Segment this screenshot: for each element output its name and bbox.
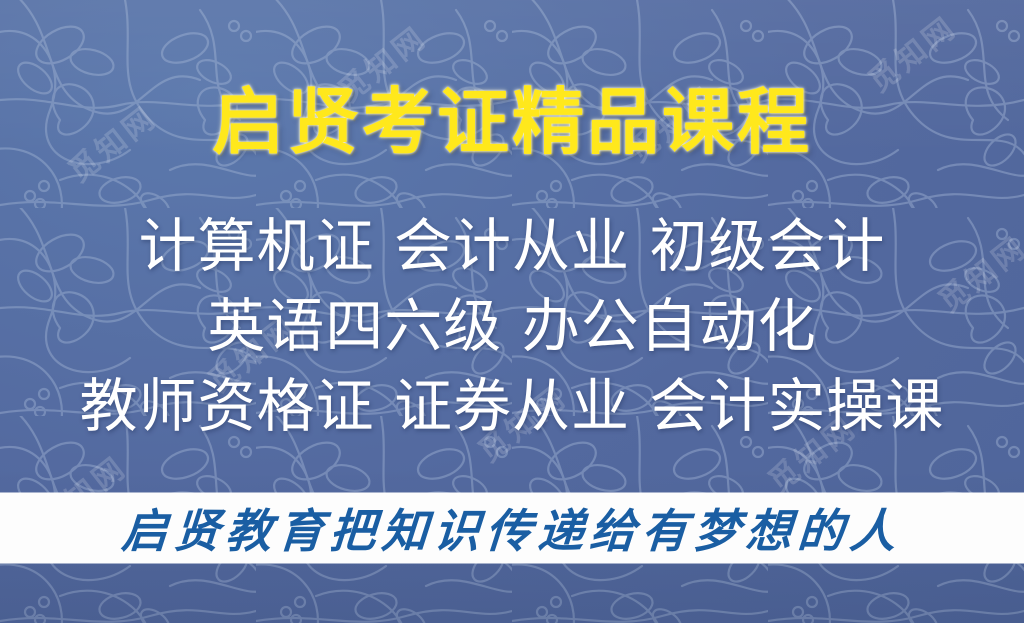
poster-title: 启贤考证精品课程 bbox=[0, 86, 1024, 158]
slogan-text: 启贤教育把知识传递给有梦想的人 bbox=[0, 496, 1024, 560]
course-line: 英语四六级 办公自动化 bbox=[0, 286, 1024, 366]
course-line: 计算机证 会计从业 初级会计 bbox=[0, 206, 1024, 286]
poster-canvas: 觅知网 觅知网 觅知网 觅知网 觅知网 觅知网 觅知网 觅知网 觅知网 启贤考证… bbox=[0, 0, 1024, 623]
course-list: 计算机证 会计从业 初级会计 英语四六级 办公自动化 教师资格证 证券从业 会计… bbox=[0, 206, 1024, 446]
course-line: 教师资格证 证券从业 会计实操课 bbox=[0, 366, 1024, 446]
